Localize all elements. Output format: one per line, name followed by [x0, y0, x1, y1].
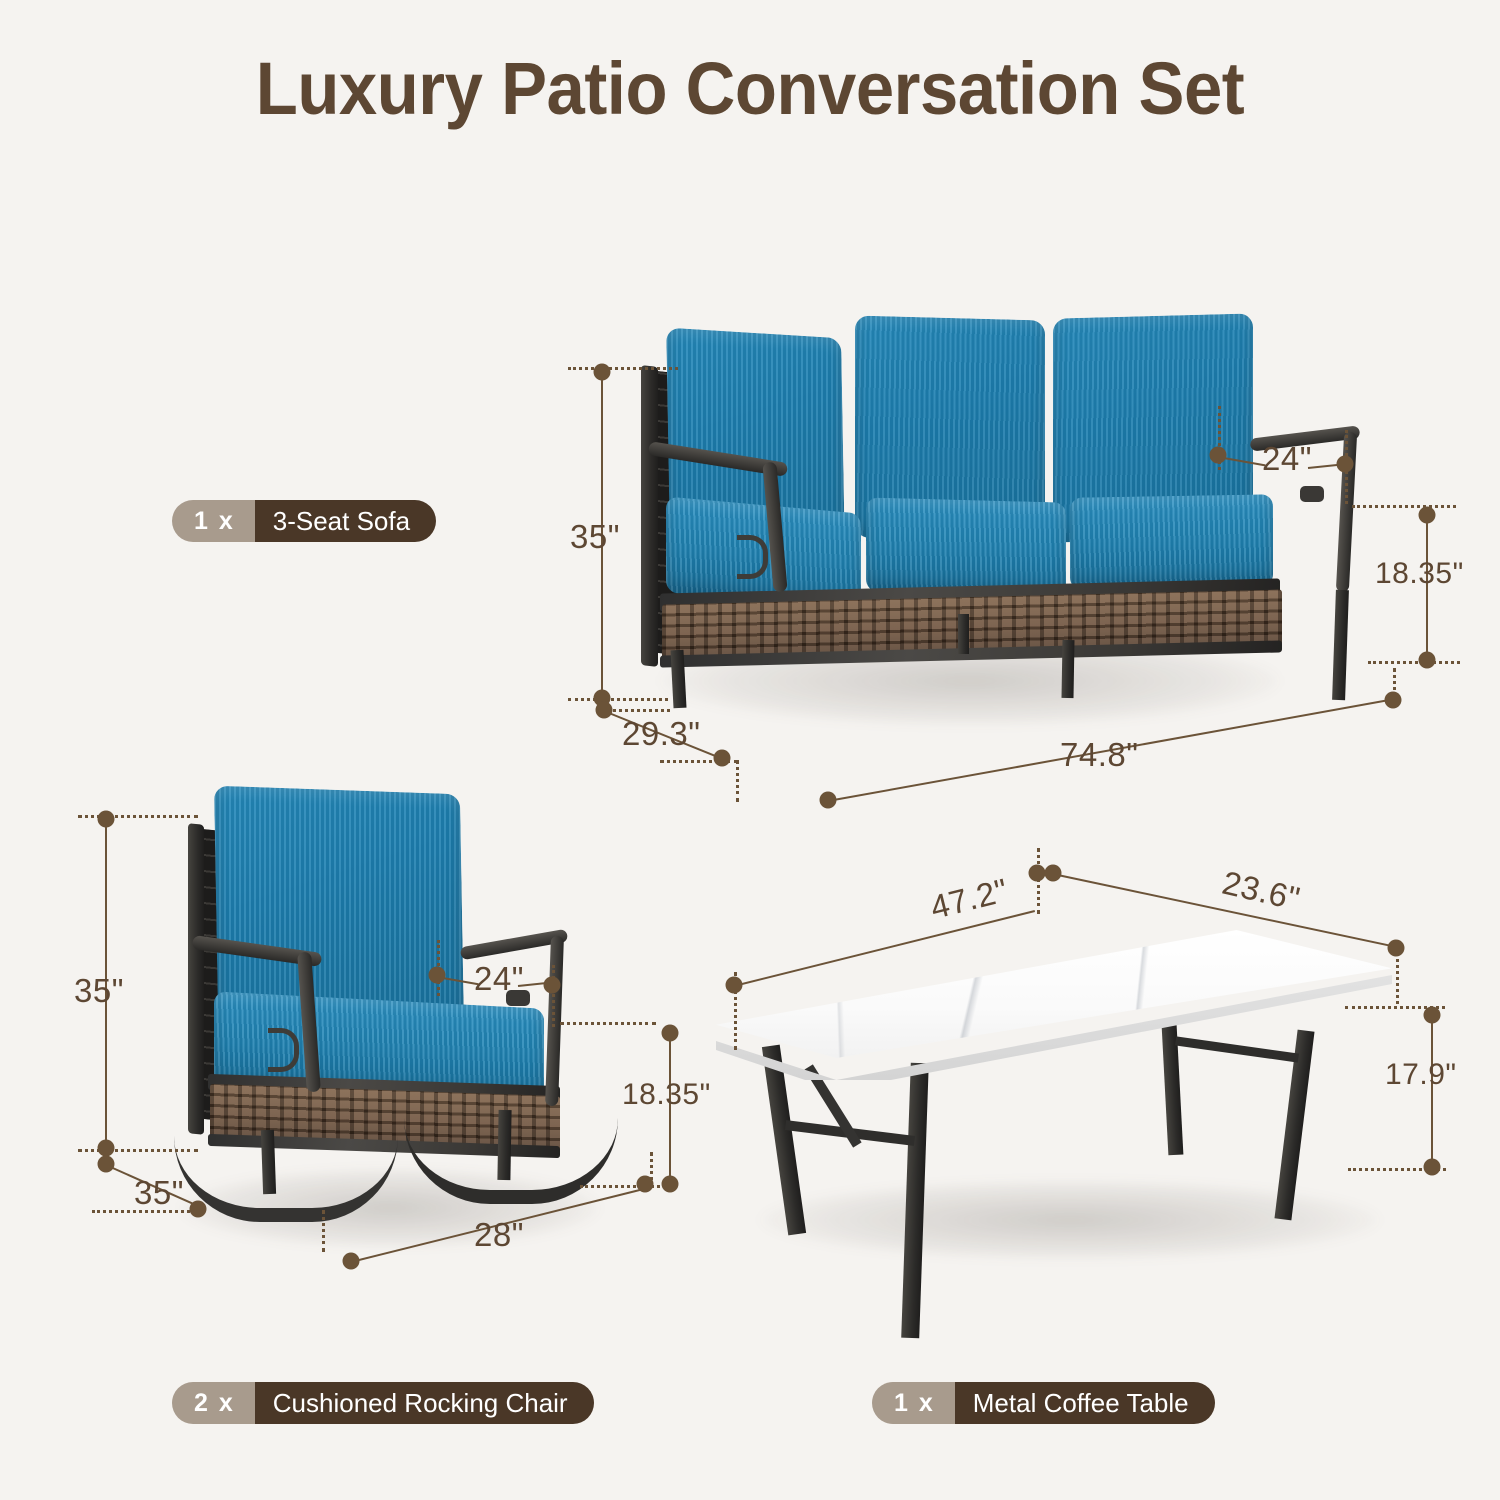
sofa-seatheight-dot-top [1419, 507, 1436, 524]
sofa-depth-label: 29.3" [622, 715, 700, 753]
sofa-leg-front-right [1332, 590, 1349, 700]
sofa-arm-right-scroll [1300, 486, 1324, 502]
chair-seatheight-lead-bottom [580, 1185, 666, 1188]
chair-left-post [188, 823, 204, 1135]
table-length-dot-right [1029, 865, 1046, 882]
sofa-seatheight-label: 18.35" [1375, 557, 1464, 591]
sofa-width-lead-left [736, 760, 739, 802]
chair-depth-label: 35" [134, 1174, 184, 1212]
badge-chair-qty: 2 x [172, 1382, 255, 1424]
chair-width-lead-left [322, 1210, 325, 1252]
sofa-width-label: 74.8" [1060, 736, 1138, 774]
chair-seatheight-label: 18.35" [622, 1078, 711, 1112]
table-width-dot-right [1388, 940, 1405, 957]
chair-leg-left [261, 1130, 276, 1194]
chair-seatheight-dot-top [662, 1025, 679, 1042]
sofa-seat-cushion-center [866, 497, 1066, 596]
sofa-left-post [641, 365, 658, 667]
sofa-height-dot-top [594, 364, 611, 381]
chair-height-label: 35" [74, 972, 124, 1010]
sofa-backdepth-label: 24" [1262, 440, 1312, 478]
table-height-dot-top [1424, 1007, 1441, 1024]
sofa-seat-cushion-right [1070, 494, 1273, 590]
chair-height-dot-bottom [98, 1140, 115, 1157]
sofa-leg-mid [1061, 640, 1074, 698]
chair-width-dot-right [637, 1176, 654, 1193]
badge-chair-label: Cushioned Rocking Chair [255, 1382, 594, 1424]
sofa-arm-left-scroll [737, 535, 768, 579]
badge-table-qty: 1 x [872, 1382, 955, 1424]
chair-depth-dot-a [98, 1156, 115, 1173]
chair-arm-left-scroll [268, 1028, 299, 1072]
badge-sofa-label: 3-Seat Sofa [255, 500, 436, 542]
sofa-depth-dot-b [714, 750, 731, 767]
chair-width-label: 28" [474, 1216, 524, 1254]
badge-sofa-qty: 1 x [172, 500, 255, 542]
page-title: Luxury Patio Conversation Set [53, 46, 1448, 131]
chair-leg-right [497, 1110, 511, 1180]
sofa-width-dot-left [820, 792, 837, 809]
chair-seatheight-lead-top [560, 1022, 656, 1025]
badge-chair: 2 x Cushioned Rocking Chair [172, 1382, 594, 1424]
sofa-width-dot-right [1385, 692, 1402, 709]
chair-seatheight-dot-bottom [662, 1176, 679, 1193]
sofa-leg-back [958, 614, 969, 654]
table-height-dot-bottom [1424, 1159, 1441, 1176]
chair-backdepth-dot-left [429, 967, 446, 984]
table-height-line [1431, 1017, 1433, 1169]
table-length-dot-left [726, 977, 743, 994]
chair-height-dot-top [98, 811, 115, 828]
table-width-dot-left [1045, 865, 1062, 882]
chair-backdepth-lead-right [552, 965, 555, 1027]
sofa-height-lead-top [568, 367, 678, 370]
sofa-backdepth-dot-right [1337, 456, 1354, 473]
chair-height-lead-bottom [78, 1149, 198, 1152]
chair-height-lead-top [78, 815, 198, 818]
sofa-seatheight-lead-top [1352, 505, 1456, 508]
table-height-label: 17.9" [1385, 1058, 1457, 1092]
sofa-seatheight-dot-bottom [1419, 652, 1436, 669]
badge-table-label: Metal Coffee Table [955, 1382, 1215, 1424]
sofa-backdepth-dot-left [1210, 447, 1227, 464]
sofa-height-label: 35" [570, 518, 620, 556]
chair-width-dot-left [343, 1253, 360, 1270]
sofa-height-lead-bottom [568, 698, 668, 701]
sofa-depth-dot-a [596, 702, 613, 719]
badge-sofa: 1 x 3-Seat Sofa [172, 500, 436, 542]
chair-depth-dot-b [190, 1201, 207, 1218]
chair-backdepth-dot-right [544, 977, 561, 994]
table-brace-back [1175, 1036, 1299, 1062]
badge-table: 1 x Metal Coffee Table [872, 1382, 1215, 1424]
table-top-surface [716, 930, 1392, 1058]
sofa-seatheight-lead-bottom [1368, 661, 1460, 664]
infographic-canvas: Luxury Patio Conversation Set [0, 0, 1500, 1500]
chair-backdepth-label: 24" [474, 960, 524, 998]
chair-back-cushion [214, 786, 464, 1027]
